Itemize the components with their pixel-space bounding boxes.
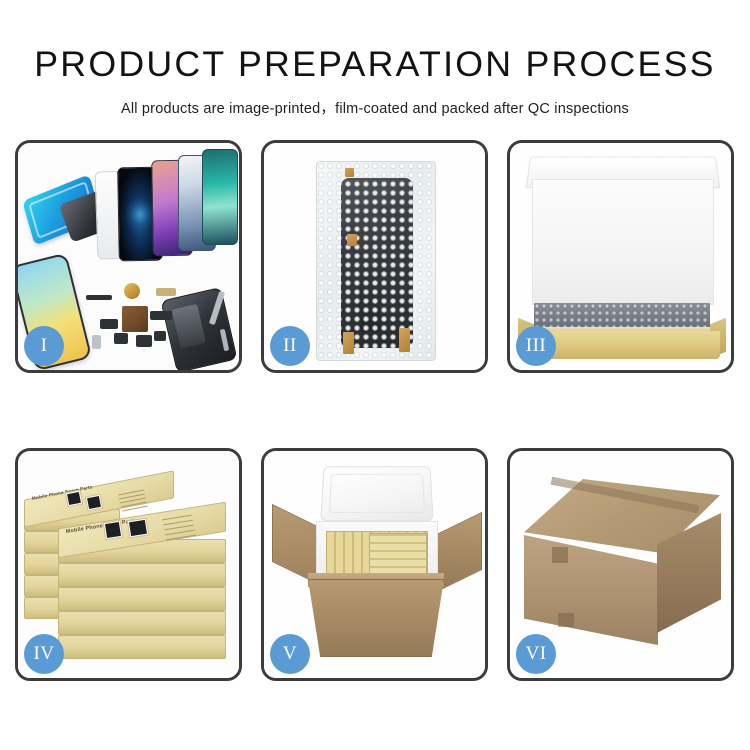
packed-inner-boxes-row2 bbox=[369, 533, 427, 575]
styrofoam-lid bbox=[320, 466, 433, 521]
earpiece-part bbox=[136, 335, 152, 347]
box-window-back-2 bbox=[85, 494, 104, 512]
screw-set-part bbox=[100, 319, 118, 329]
step-badge-3: III bbox=[516, 326, 556, 366]
carton-tab-lower bbox=[558, 613, 574, 627]
step-badge-5: V bbox=[270, 634, 310, 674]
speaker-part bbox=[150, 311, 172, 320]
foam-sheet bbox=[532, 179, 714, 305]
step-badge-6: VI bbox=[516, 634, 556, 674]
sim-tray-part bbox=[92, 335, 101, 349]
tape-piece-right bbox=[399, 328, 410, 352]
box-stack: Mobile Phone Spare Parts bbox=[24, 475, 236, 665]
step-badge-1: I bbox=[24, 326, 64, 366]
process-step-panel-2[interactable]: II bbox=[261, 140, 488, 373]
tape-piece-mid bbox=[347, 234, 357, 246]
logic-board-part bbox=[122, 306, 148, 332]
stacked-box-fr-1 bbox=[58, 635, 226, 659]
carton-tab-upper bbox=[552, 547, 568, 563]
button-flex-part bbox=[154, 331, 166, 341]
tape-piece-left bbox=[343, 332, 354, 354]
shipping-carton-front bbox=[524, 535, 658, 645]
camera-module-part bbox=[124, 283, 140, 299]
stacked-box-fr-2 bbox=[58, 611, 226, 635]
carton-body bbox=[308, 579, 444, 657]
vibrator-part bbox=[114, 333, 128, 344]
page-subtitle: All products are image-printed，film-coat… bbox=[0, 97, 750, 118]
tape-piece-top bbox=[345, 168, 354, 177]
product-preparation-process-page: PRODUCT PREPARATION PROCESS All products… bbox=[0, 0, 750, 750]
bubble-texture bbox=[317, 162, 435, 360]
box-window-front-2 bbox=[127, 518, 150, 539]
process-step-panel-3[interactable]: III bbox=[507, 140, 734, 373]
process-step-panel-4[interactable]: Mobile Phone Spare Parts bbox=[15, 448, 242, 681]
stacked-box-fr-3 bbox=[58, 587, 226, 611]
process-step-grid: I II bbox=[15, 140, 735, 680]
process-step-panel-5[interactable]: V bbox=[261, 448, 488, 681]
process-step-panel-1[interactable]: I bbox=[15, 140, 242, 373]
flex-cable-part bbox=[86, 295, 112, 300]
box-window-front-1 bbox=[103, 520, 124, 541]
page-header: PRODUCT PREPARATION PROCESS All products… bbox=[0, 0, 750, 118]
step-badge-2: II bbox=[270, 326, 310, 366]
phone-teardown-chassis bbox=[160, 287, 237, 370]
page-title: PRODUCT PREPARATION PROCESS bbox=[0, 47, 750, 82]
stacked-box-fr-4 bbox=[58, 563, 226, 587]
bubble-wrap-bag bbox=[316, 161, 436, 361]
phone-display-teal bbox=[202, 149, 238, 245]
battery-connector-part bbox=[156, 288, 176, 296]
process-step-panel-6[interactable]: VI bbox=[507, 448, 734, 681]
box-window-back-1 bbox=[65, 490, 84, 508]
step-badge-4: IV bbox=[24, 634, 64, 674]
